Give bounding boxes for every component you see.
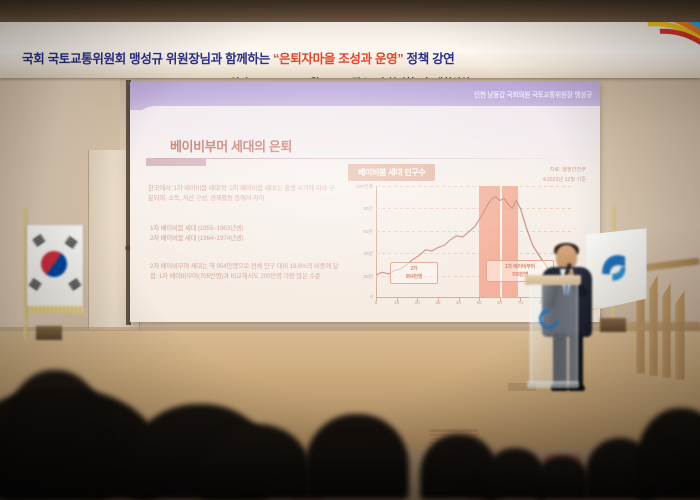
chart-x-tick-label: 40: [456, 300, 461, 305]
city-emblem-icon: [597, 248, 631, 286]
podium: [525, 275, 581, 393]
banner-title-suffix: 정책 강연: [403, 52, 454, 66]
chart-x-tick-label: 60: [497, 300, 502, 305]
chart-y-tick-label: 100만명: [356, 183, 373, 190]
flag-stand-left: [36, 326, 62, 340]
trigram-bottom-left: [32, 278, 41, 285]
chart-y-tick-label: 80만: [363, 205, 373, 212]
slide-header-text: 인천 남동갑 국회의원 국토교통위원장 맹성규: [474, 89, 592, 99]
chart-callout-1: 2차 954만명: [390, 262, 438, 284]
slide-paragraph-1: 한국에서 ‘1차 베이비붐 세대’와 ‘2차 베이비붐 세대’는 출생 시기에 …: [148, 184, 338, 204]
slide-paragraph-3: 2차 베이비부머 세대는 약 954만명으로 전체 인구 대비 18.6%의 비…: [150, 262, 340, 282]
chart-x-tick-label: 30: [435, 300, 440, 305]
trigram-top-left: [32, 234, 41, 241]
city-flag: [585, 228, 647, 312]
chart-note-text: ※2023년 12월 기준: [542, 176, 586, 186]
banner-title-highlight: “은퇴자마을 조성과 운영”: [273, 52, 403, 66]
banner-decoration: [570, 22, 700, 78]
chart-x-tick-label: 0: [375, 300, 378, 305]
trigram-bottom-right: [68, 278, 77, 285]
podium-base: [527, 381, 579, 388]
chart-x-tick-label: 70: [518, 300, 523, 305]
banner-subtitle: 일시 : 2026. 3. 30.(월) 16:20 장소 : 춘천시청 1층 …: [0, 74, 700, 78]
slide-title-rule: [154, 158, 574, 159]
lecture-hall-photo: 국회 국토교통위원회 맹성규 위원장님과 함께하는 “은퇴자마을 조성과 운영”…: [0, 0, 700, 500]
banner-title: 국회 국토교통위원회 맹성규 위원장님과 함께하는 “은퇴자마을 조성과 운영”…: [22, 48, 454, 67]
chart-y-tick-label: 0: [370, 295, 373, 300]
flag-fringe-left: [27, 306, 83, 313]
chart-title: 베이비붐 세대 인구수: [348, 164, 435, 181]
chart-x-tick-label: 20: [415, 300, 420, 305]
chart-x-tick-label: 50: [477, 300, 482, 305]
chart-source-text: 자료: 행정안전부: [542, 166, 586, 176]
event-banner: 국회 국토교통위원회 맹성규 위원장님과 함께하는 “은퇴자마을 조성과 운영”…: [0, 22, 700, 78]
audience-head-7: [535, 456, 589, 500]
taeguk-symbol-icon: [36, 246, 72, 282]
chart-source: 자료: 행정안전부 ※2023년 12월 기준: [542, 166, 586, 186]
slide-paragraph-2: 1차 베이비붐 세대 (1955~1963년생) 2차 베이비붐 세대 (196…: [150, 224, 340, 244]
korean-national-flag: [27, 225, 83, 307]
chart-y-tick-label: 40만: [363, 250, 373, 257]
slide-title-tab: [146, 158, 206, 166]
podium-acrylic-panel: [530, 284, 578, 384]
trigram-top-right: [68, 236, 77, 243]
stage-floor-edge: [0, 327, 700, 331]
chart-x-tick-label: 10: [394, 300, 399, 305]
banner-title-prefix: 국회 국토교통위원회 맹성규 위원장님과 함께하는: [22, 52, 273, 66]
flag-stand-right: [600, 318, 626, 332]
chart-y-tick-label: 60만: [363, 228, 373, 235]
chart-y-tick-label: 20만: [363, 273, 373, 280]
slide-title: 베이비부머 세대의 은퇴: [170, 136, 292, 155]
